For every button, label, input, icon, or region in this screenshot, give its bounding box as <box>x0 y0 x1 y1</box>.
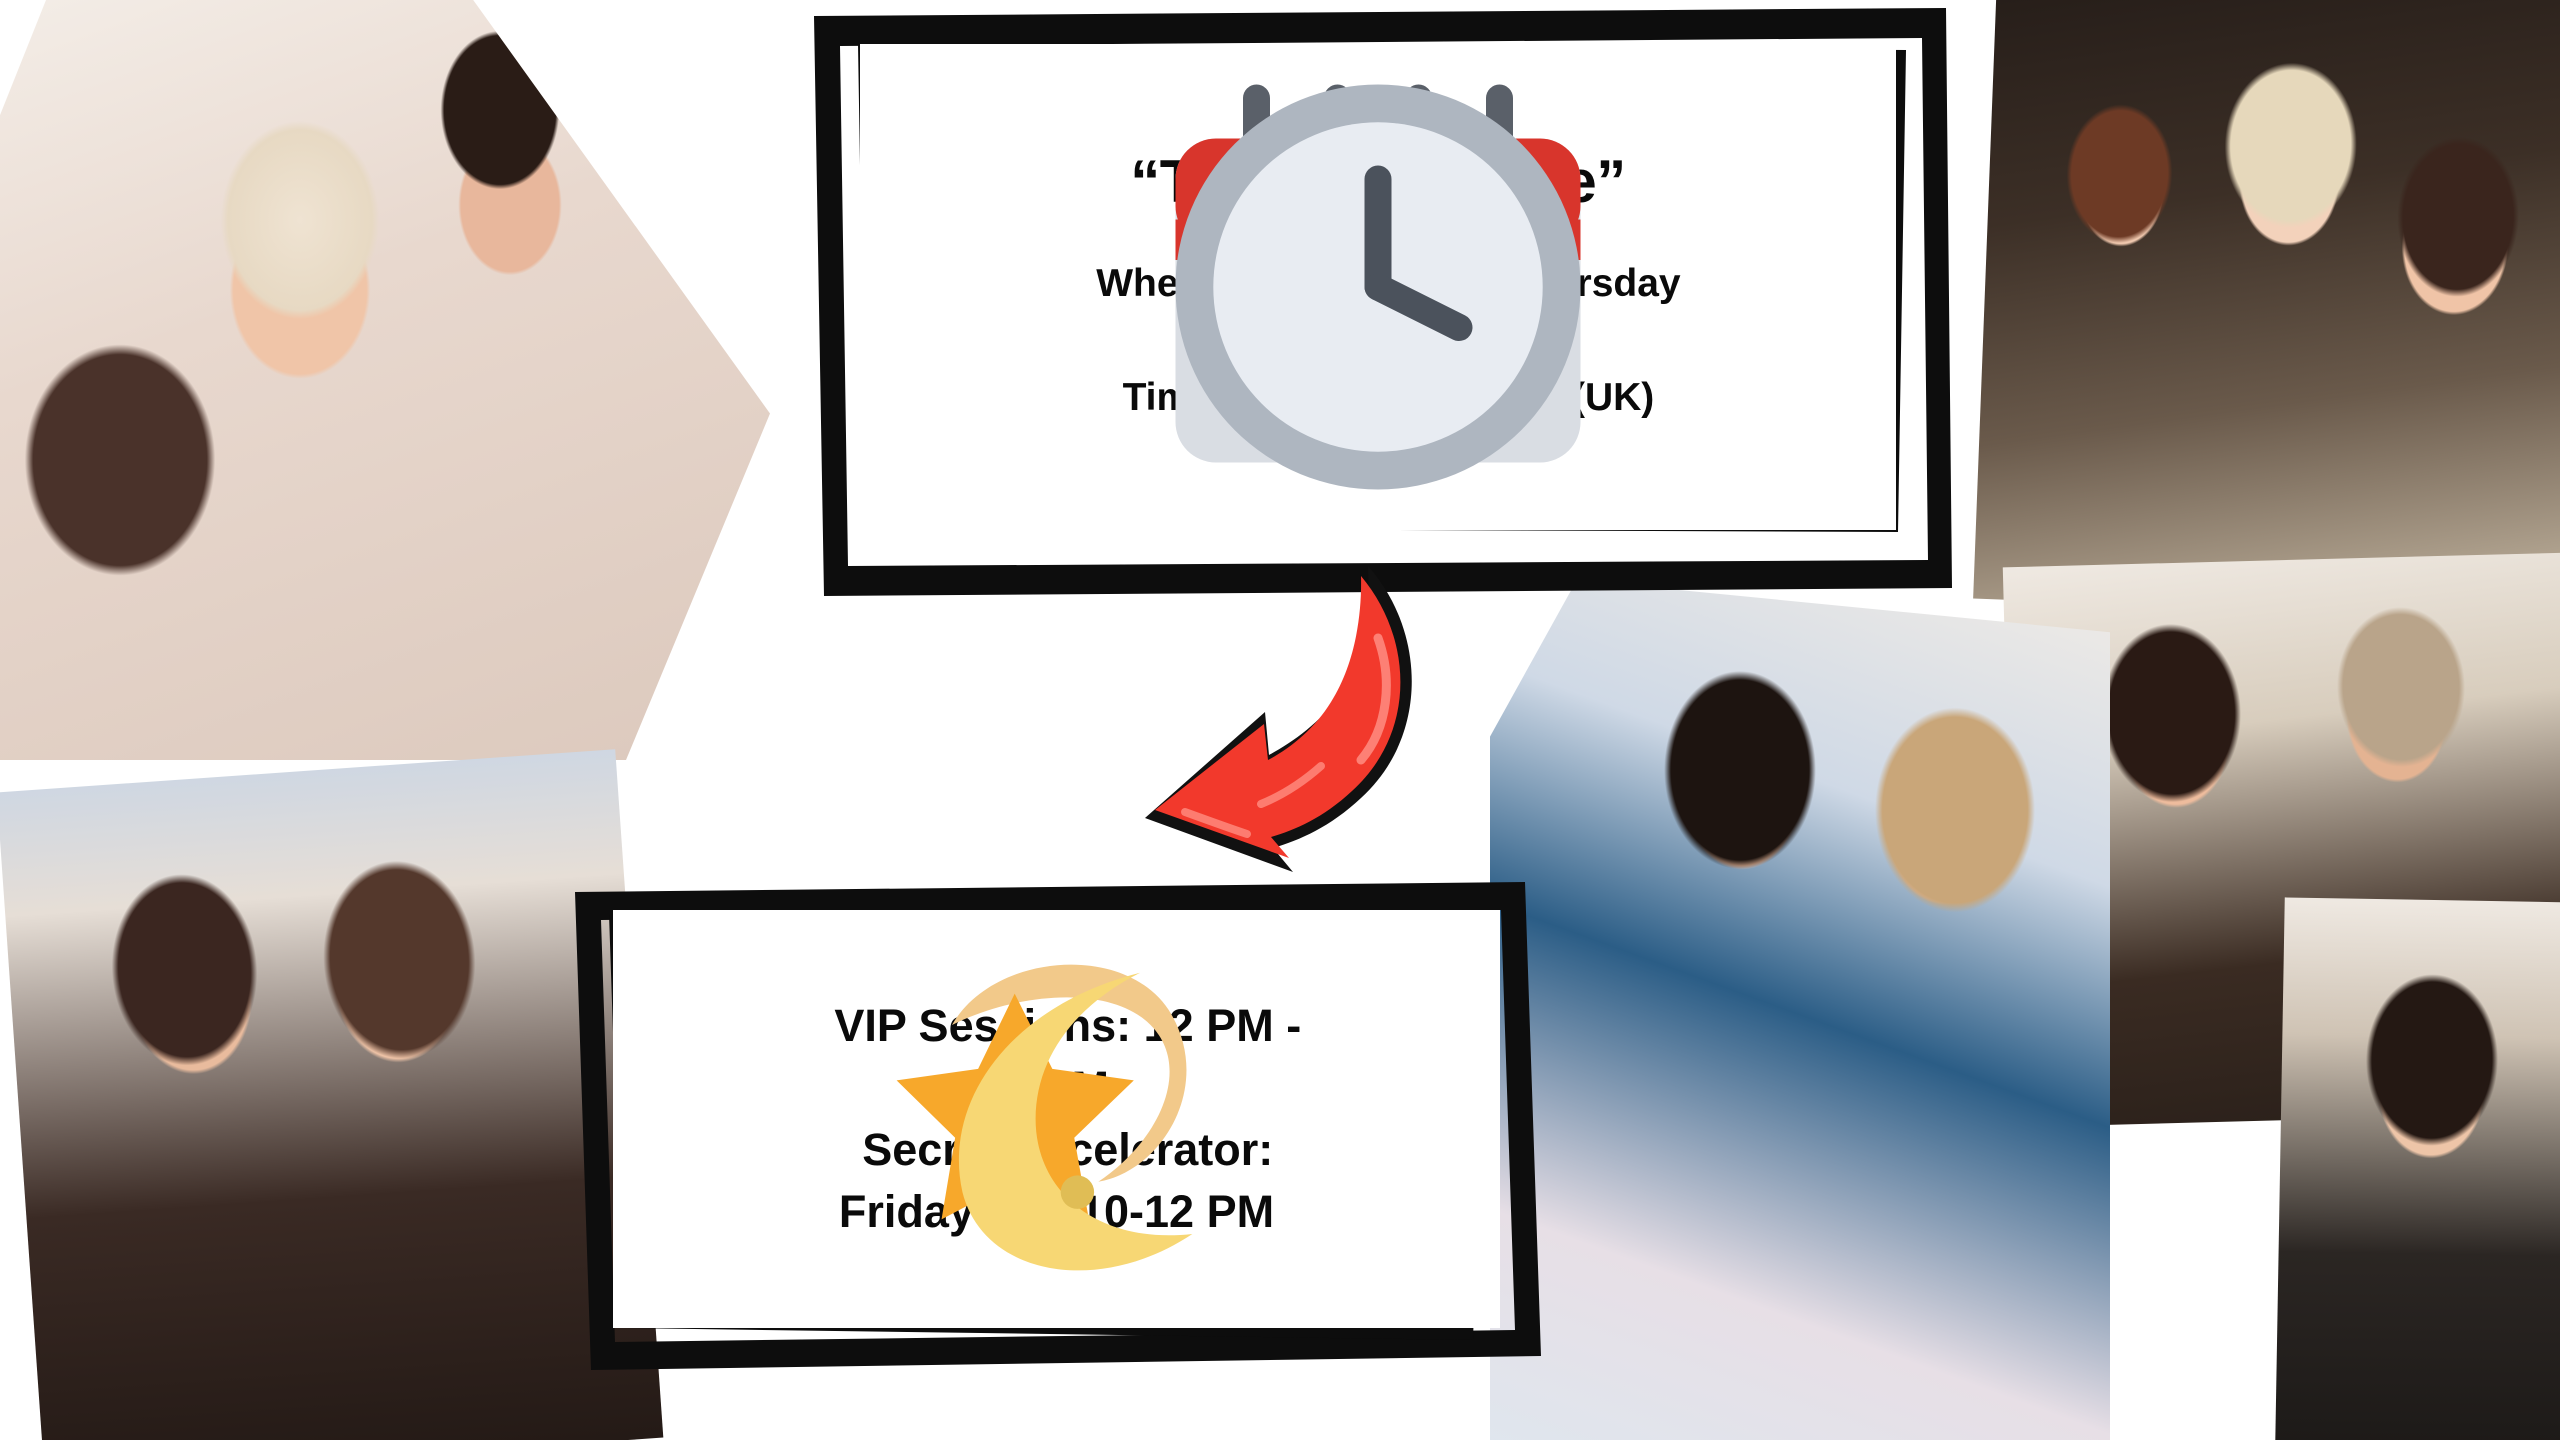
bottom-card-content: VIP Sessions: 12 PM - 1 PM Secret Accele… <box>613 910 1500 1328</box>
top-info-card: “The Experience” <box>800 0 1960 600</box>
top-card-line-time: Time: 10 AM – 11:30 AM (UK) <box>1102 373 1655 424</box>
bottom-card-line-accelerator: Secret Accelerator: <box>840 1119 1274 1181</box>
red-curved-down-left-arrow <box>1125 560 1485 905</box>
photo-center-bottom <box>1490 580 2110 1440</box>
top-card-content: “The Experience” <box>860 44 1896 530</box>
photo-left-top <box>0 0 770 760</box>
bottom-info-card: VIP Sessions: 12 PM - 1 PM Secret Accele… <box>565 870 1550 1380</box>
photo-left-bottom <box>0 749 663 1440</box>
poster-canvas: “The Experience” <box>0 0 2560 1440</box>
photo-right-bottom <box>2275 897 2560 1440</box>
photo-right-top <box>1973 0 2560 621</box>
